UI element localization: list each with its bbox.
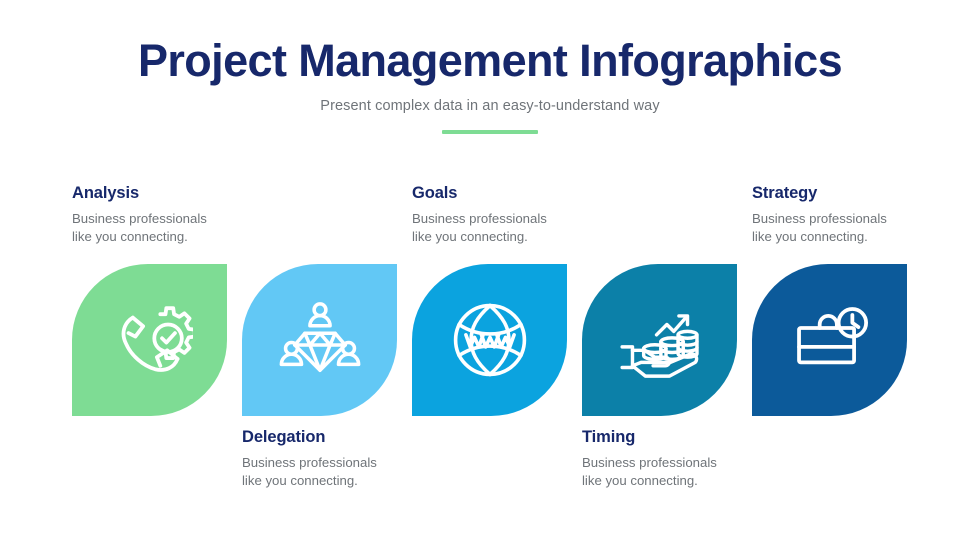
infographic-slide: Project Management Infographics Present … <box>0 0 980 551</box>
card-shape-goals[interactable] <box>412 264 567 416</box>
card-analysis[interactable]: Analysis Business professionals like you… <box>64 170 236 510</box>
card-shape-timing[interactable] <box>582 264 737 416</box>
card-description: Business professionals like you connecti… <box>242 454 410 490</box>
diamond-team-icon <box>242 264 397 416</box>
card-description: Business professionals like you connecti… <box>752 210 920 246</box>
hand-coins-growth-icon <box>582 264 737 416</box>
card-title: Timing <box>582 428 750 448</box>
card-text-goals: Goals Business professionals like you co… <box>412 184 580 246</box>
card-description: Business professionals like you connecti… <box>412 210 580 246</box>
card-text-analysis: Analysis Business professionals like you… <box>72 184 240 246</box>
card-title: Delegation <box>242 428 410 448</box>
card-description: Business professionals like you connecti… <box>582 454 750 490</box>
card-title: Analysis <box>72 184 240 204</box>
card-goals[interactable]: Goals Business professionals like you co… <box>404 170 576 510</box>
card-description: Business professionals like you connecti… <box>72 210 240 246</box>
card-text-strategy: Strategy Business professionals like you… <box>752 184 920 246</box>
card-shape-delegation[interactable] <box>242 264 397 416</box>
accent-divider <box>442 130 538 134</box>
page-subtitle: Present complex data in an easy-to-under… <box>0 98 980 114</box>
card-strategy[interactable]: Strategy Business professionals like you… <box>744 170 916 510</box>
card-text-delegation: Delegation Business professionals like y… <box>242 428 410 490</box>
slide-header: Project Management Infographics Present … <box>0 36 980 134</box>
card-row: Analysis Business professionals like you… <box>0 170 980 510</box>
card-title: Strategy <box>752 184 920 204</box>
phone-gear-check-icon <box>72 264 227 416</box>
globe-www-icon <box>412 264 567 416</box>
card-title: Goals <box>412 184 580 204</box>
card-shape-strategy[interactable] <box>752 264 907 416</box>
card-delegation[interactable]: Delegation Business professionals like y… <box>234 170 406 510</box>
briefcase-clock-icon <box>752 264 907 416</box>
card-timing[interactable]: Timing Business professionals like you c… <box>574 170 746 510</box>
card-shape-analysis[interactable] <box>72 264 227 416</box>
page-title: Project Management Infographics <box>0 36 980 86</box>
card-text-timing: Timing Business professionals like you c… <box>582 428 750 490</box>
